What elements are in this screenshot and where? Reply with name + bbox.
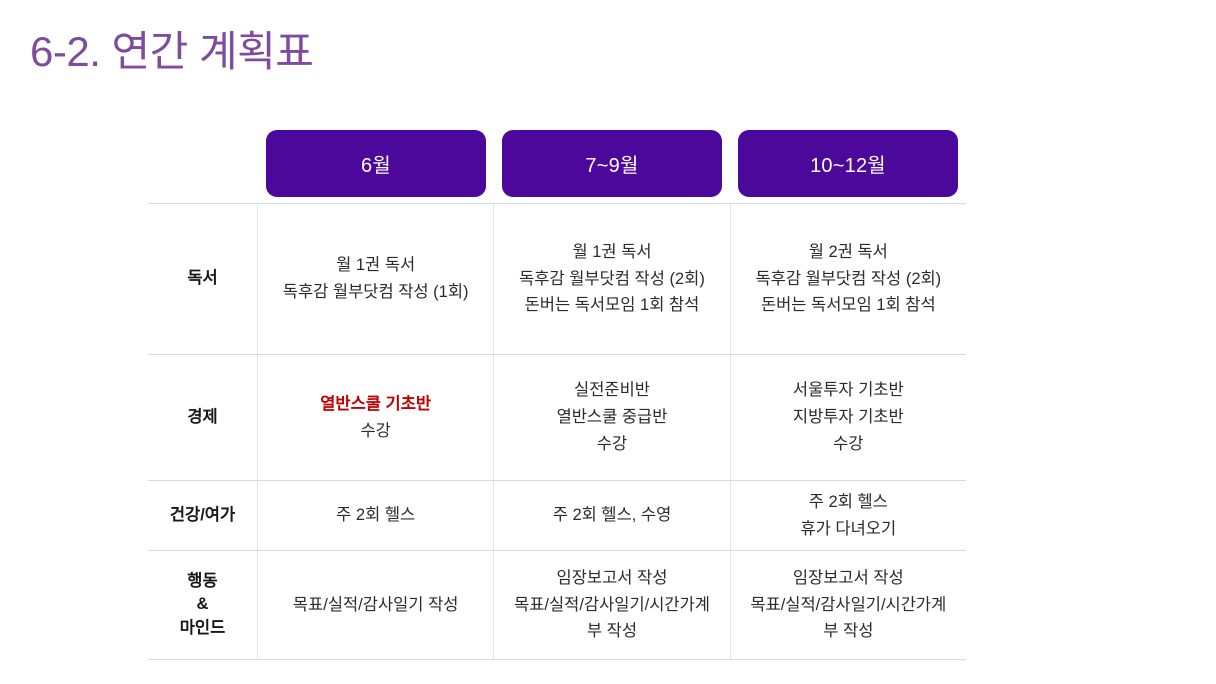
cell-action-jul-sep: 임장보고서 작성 목표/실적/감사일기/시간가계부 작성: [494, 551, 730, 659]
cell-line: 월 1권 독서: [519, 239, 705, 266]
annual-plan-table: 6월 7~9월 10~12월 독서 월 1권 독서 독후감 월부닷컴 작성 (1…: [148, 130, 966, 660]
row-label-reading: 독서: [148, 204, 258, 354]
column-header-jul-sep[interactable]: 7~9월: [494, 130, 730, 197]
row-label-line: 마인드: [180, 617, 226, 640]
cell-line: 수강: [557, 431, 668, 458]
cell-line: 지방투자 기초반: [793, 404, 904, 431]
table-header-row: 6월 7~9월 10~12월: [148, 130, 966, 203]
table-body: 독서 월 1권 독서 독후감 월부닷컴 작성 (1회) 월 1권 독서 독후감 …: [148, 203, 966, 660]
cell-economy-june: 열반스쿨 기초반 수강: [258, 355, 494, 480]
cell-line: 실전준비반: [557, 377, 668, 404]
cell-line: 돈버는 독서모임 1회 참석: [755, 292, 941, 319]
cell-line: 목표/실적/감사일기/시간가계부 작성: [746, 592, 951, 645]
cell-line: 주 2회 헬스: [336, 502, 415, 529]
row-label-economy: 경제: [148, 355, 258, 480]
cell-line: 월 1권 독서: [283, 252, 469, 279]
row-label-line: &: [180, 593, 226, 616]
cell-line: 수강: [320, 418, 431, 445]
cell-reading-june: 월 1권 독서 독후감 월부닷컴 작성 (1회): [258, 204, 494, 354]
cell-line: 열반스쿨 중급반: [557, 404, 668, 431]
column-header-oct-dec-pill[interactable]: 10~12월: [738, 130, 958, 197]
cell-economy-jul-sep: 실전준비반 열반스쿨 중급반 수강: [494, 355, 730, 480]
cell-reading-jul-sep: 월 1권 독서 독후감 월부닷컴 작성 (2회) 돈버는 독서모임 1회 참석: [494, 204, 730, 354]
table-row: 경제 열반스쿨 기초반 수강 실전준비반 열반스쿨 중급반 수강 서울투자 기초…: [148, 355, 966, 481]
cell-line: 독후감 월부닷컴 작성 (1회): [283, 279, 469, 306]
row-label-health-leisure: 건강/여가: [148, 481, 258, 550]
cell-line: 월 2권 독서: [755, 239, 941, 266]
cell-health-june: 주 2회 헬스: [258, 481, 494, 550]
cell-economy-oct-dec: 서울투자 기초반 지방투자 기초반 수강: [731, 355, 966, 480]
column-header-june-pill[interactable]: 6월: [266, 130, 486, 197]
cell-reading-oct-dec: 월 2권 독서 독후감 월부닷컴 작성 (2회) 돈버는 독서모임 1회 참석: [731, 204, 966, 354]
column-header-june[interactable]: 6월: [258, 130, 494, 197]
cell-line: 휴가 다녀오기: [800, 516, 896, 543]
table-row: 건강/여가 주 2회 헬스 주 2회 헬스, 수영 주 2회 헬스 휴가 다녀오…: [148, 481, 966, 551]
cell-health-jul-sep: 주 2회 헬스, 수영: [494, 481, 730, 550]
table-row: 행동 & 마인드 목표/실적/감사일기 작성 임장보고서 작성 목표/실적/감사…: [148, 551, 966, 660]
cell-line-highlighted: 열반스쿨 기초반: [320, 391, 431, 418]
row-label-line: 행동: [180, 570, 226, 593]
cell-line: 임장보고서 작성: [746, 565, 951, 592]
cell-health-oct-dec: 주 2회 헬스 휴가 다녀오기: [731, 481, 966, 550]
cell-action-june: 목표/실적/감사일기 작성: [258, 551, 494, 659]
row-label-action-mind: 행동 & 마인드: [148, 551, 258, 659]
cell-line: 수강: [793, 431, 904, 458]
cell-line: 주 2회 헬스: [800, 489, 896, 516]
cell-line: 독후감 월부닷컴 작성 (2회): [755, 266, 941, 293]
cell-line: 돈버는 독서모임 1회 참석: [519, 292, 705, 319]
cell-action-oct-dec: 임장보고서 작성 목표/실적/감사일기/시간가계부 작성: [731, 551, 966, 659]
cell-line: 서울투자 기초반: [793, 377, 904, 404]
column-header-oct-dec[interactable]: 10~12월: [730, 130, 966, 197]
cell-line: 임장보고서 작성: [509, 565, 714, 592]
page-title: 6-2. 연간 계획표: [30, 18, 313, 79]
cell-line: 목표/실적/감사일기 작성: [293, 592, 459, 619]
cell-line: 주 2회 헬스, 수영: [553, 502, 672, 529]
cell-line: 독후감 월부닷컴 작성 (2회): [519, 266, 705, 293]
column-header-jul-sep-pill[interactable]: 7~9월: [502, 130, 722, 197]
table-row: 독서 월 1권 독서 독후감 월부닷컴 작성 (1회) 월 1권 독서 독후감 …: [148, 204, 966, 355]
cell-line: 목표/실적/감사일기/시간가계부 작성: [509, 592, 714, 645]
